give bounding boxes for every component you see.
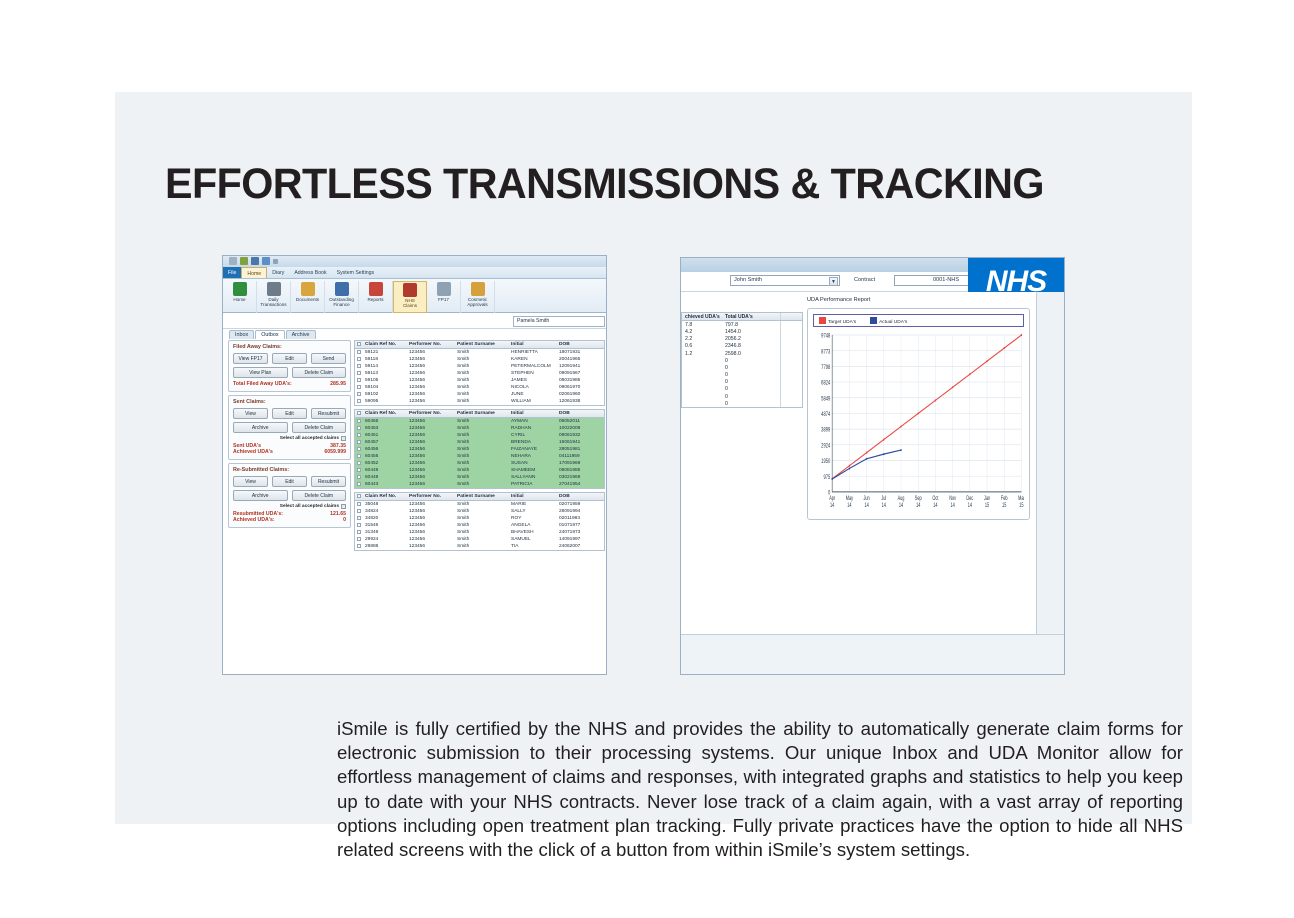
button-archive[interactable]: Archive [233,490,288,501]
table-cell: STEPHEN [509,370,557,377]
legend-swatch [870,317,877,324]
table-cell: 123456 [407,453,455,460]
checkbox-icon[interactable] [357,426,361,430]
button-send[interactable]: Send [311,353,346,364]
table-cell: 60452 [363,460,407,467]
select-all-label: Select all accepted claims [280,504,339,509]
table-cell: Smith [455,543,509,550]
panel-sent-claims: Sent Claims:ViewEditResubmitArchiveDelet… [228,395,351,460]
checkbox-icon[interactable] [357,509,361,513]
table-cell: 123456 [407,515,455,522]
table-cell: KAREN [509,356,557,363]
x-axis-tick-label-year: 14 [882,502,886,509]
table-cell: 123456 [407,432,455,439]
table-cell: 02061960 [557,391,597,398]
table-row[interactable]: 60465123456SmithAYMAN06052011 [355,418,604,425]
button-resubmit[interactable]: Resubmit [311,476,346,487]
stat-row: Total Filed Away UDA's:285.95 [233,381,346,387]
ribbon-button-cosmetic-approvals[interactable]: CosmeticApprovals [461,281,495,313]
row-checkbox[interactable] [355,522,363,529]
select-all-checkbox[interactable] [355,341,363,348]
chart-data-point [900,425,901,427]
ribbon-button-documents[interactable]: Documents [291,281,325,313]
table-cell: Smith [455,356,509,363]
table-row[interactable]: 59104123456SmithNICOLA09061970 [355,384,604,391]
books-icon [403,283,417,297]
table-cell: Smith [455,508,509,515]
column-header: Patient Surname [455,493,509,500]
checkbox-icon[interactable] [357,433,361,437]
sent-claims-grid: Claim Ref No.Performer No.Patient Surnam… [354,409,605,489]
table-cell: Smith [455,439,509,446]
chart-data-point [1021,334,1022,336]
table-cell: 18071931 [557,349,597,356]
stat-row: Achieved UDA's6059.999 [233,449,346,455]
table-row[interactable]: 29924123456SmithSAMUEL14091997 [355,536,604,543]
legend-label: Actual UDA's [879,320,907,325]
chart-data-point [883,438,884,440]
table-row[interactable]: 60452123456SmithSUSAN17091969 [355,460,604,467]
table-row[interactable]: 59114123456SmithPETERMALCOLM12091941 [355,363,604,370]
table-cell: 24062007 [557,543,597,550]
checkbox-icon[interactable] [357,342,361,346]
table-cell: JUNE [509,391,557,398]
table-row[interactable]: 0 [682,379,802,386]
checkbox-icon[interactable] [357,385,361,389]
table-row[interactable]: 2.22056.2 [682,336,802,343]
table-cell: 0 [722,393,780,400]
table-row[interactable]: 60456123456SmithFAIZANAYE28051981 [355,446,604,453]
table-cell: Smith [455,349,509,356]
table-cell [682,372,722,379]
column-header: DOB [557,410,597,417]
checkbox-icon[interactable] [341,436,346,441]
page-title: EFFORTLESS TRANSMISSIONS & TRACKING [165,160,1044,209]
claims-tab-strip[interactable]: InboxOutboxArchive [229,330,316,339]
column-header: DOB [557,493,597,500]
button-delete-claim[interactable]: Delete Claim [292,422,347,433]
table-cell: 59104 [363,384,407,391]
ribbon-button-fp17[interactable]: FP17 [427,281,461,313]
table-cell: 09061932 [557,432,597,439]
legend-swatch [819,317,826,324]
table-cell: 123456 [407,391,455,398]
table-cell: TIA [509,543,557,550]
table-cell: 2598.0 [722,350,780,357]
ribbon-button-outstanding-finance[interactable]: OutstandingFinance [325,281,359,313]
column-header: Claim Ref No. [363,410,407,417]
table-row[interactable]: 60457123456SmithBRENDA16061941 [355,439,604,446]
table-row[interactable]: 0 [682,386,802,393]
table-cell: 34820 [363,515,407,522]
chart-data-point [866,452,867,454]
table-cell [682,379,722,386]
table-cell: 123456 [407,370,455,377]
table-row[interactable]: 60455123456SmithNEHARA04111959 [355,453,604,460]
table-row[interactable]: 59105123456SmithJAMES08031985 [355,377,604,384]
table-row[interactable]: 60449123456SmithSHAMEEM08081985 [355,467,604,474]
table-cell: FAIZANAYE [509,446,557,453]
tab-inbox[interactable]: Inbox [229,330,254,339]
ribbon-tab-address-book[interactable]: Address Book [289,267,331,278]
chart-data-point [849,467,850,469]
table-cell: 35048 [363,501,407,508]
checkbox-icon[interactable] [357,364,361,368]
stat-label: Total Filed Away UDA's: [233,381,292,387]
screenshot-nhs-claims-outbox: FileHomeDiaryAddress BookSystem Settings… [222,255,607,675]
row-checkbox[interactable] [355,377,363,384]
ribbon-button-home[interactable]: Home [223,281,257,313]
right-scroll-strip[interactable] [1036,292,1064,674]
row-checkbox[interactable] [355,370,363,377]
checkbox-icon[interactable] [357,537,361,541]
x-axis-tick-label-year: 14 [968,502,972,509]
table-row[interactable]: 0.62346.8 [682,343,802,350]
table-cell: 2346.8 [722,343,780,350]
checkbox-icon[interactable] [357,454,361,458]
button-view[interactable]: View [233,476,268,487]
ribbon-tab-system-settings[interactable]: System Settings [332,267,379,278]
table-cell: 60463 [363,425,407,432]
person-icon[interactable] [251,257,259,265]
checkbox-icon[interactable] [357,371,361,375]
row-checkbox[interactable] [355,467,363,474]
row-checkbox[interactable] [355,501,363,508]
table-cell: 02071959 [557,501,597,508]
table-row[interactable]: 59121123456SmithHENRIETTA18071931 [355,349,604,356]
table-cell: 797.8 [722,321,780,328]
table-row[interactable]: 31546123456SmithANGELA01071977 [355,522,604,529]
user-icon[interactable] [240,257,248,265]
table-cell: 10022008 [557,425,597,432]
checkbox-icon[interactable] [357,516,361,520]
table-cell [780,364,802,371]
table-cell: SAMUEL [509,536,557,543]
column-header: Total UDA's [722,313,780,320]
table-cell: 29924 [363,536,407,543]
ribbon-button-label: Transactions [257,302,290,307]
button-delete-claim[interactable]: Delete Claim [292,367,347,378]
button-view-fp17[interactable]: View FP17 [233,353,268,364]
table-cell: WILLIAM [509,398,557,405]
row-checkbox[interactable] [355,356,363,363]
table-cell: Smith [455,391,509,398]
table-cell: Smith [455,398,509,405]
row-checkbox[interactable] [355,425,363,432]
table-cell: 0 [722,379,780,386]
row-checkbox[interactable] [355,474,363,481]
globe-icon [233,282,247,296]
button-resubmit[interactable]: Resubmit [311,408,346,419]
panel-title: Filed Away Claims: [233,344,346,350]
ribbon-button-label: Reports [359,297,392,302]
row-checkbox[interactable] [355,543,363,550]
table-row[interactable]: 59118123456SmithKAREN20041965 [355,356,604,363]
table-cell: 7.8 [682,321,722,328]
button-edit[interactable]: Edit [272,353,307,364]
table-row[interactable]: 0 [682,400,802,407]
table-cell: 0.6 [682,343,722,350]
y-axis-tick-label: 6824 [821,380,830,387]
table-cell: 60448 [363,474,407,481]
table-cell: RADHAN [509,425,557,432]
table-cell: 123456 [407,398,455,405]
table-cell: 08031985 [557,377,597,384]
table-cell: 123456 [407,467,455,474]
ribbon-button-label: Home [223,297,256,302]
table-cell: ROY [509,515,557,522]
row-checkbox[interactable] [355,460,363,467]
table-row[interactable]: 59113123456SmithSTEPHEN09091967 [355,370,604,377]
ribbon-tab-home[interactable]: Home [241,267,267,278]
checkbox-icon[interactable] [357,544,361,548]
checkbox-icon[interactable] [357,440,361,444]
uda-monitor-body: chieved UDA'sTotal UDA's7.8797.84.21454.… [681,292,1064,674]
x-axis-tick-label-year: 14 [864,502,868,509]
table-cell [780,400,802,407]
table-cell: Smith [455,460,509,467]
button-delete-claim[interactable]: Delete Claim [292,490,347,501]
table-row[interactable]: 0 [682,372,802,379]
row-checkbox[interactable] [355,529,363,536]
y-axis-tick-label: 5849 [821,396,830,403]
x-axis-tick-label-year: 14 [899,502,903,509]
checkbox-icon[interactable] [357,399,361,403]
chart-panel-title: UDA Performance Report [807,297,870,303]
table-cell: 08081985 [557,467,597,474]
select-all-checkbox[interactable] [355,493,363,500]
ribbon-tab-diary[interactable]: Diary [267,267,289,278]
table-cell: 09091967 [557,370,597,377]
y-axis-tick-label: 3899 [821,427,830,434]
quick-access-toolbar [223,256,606,267]
table-cell: Smith [455,515,509,522]
column-header: Claim Ref No. [363,493,407,500]
table-row[interactable]: 35048123456SmithMARIE02071959 [355,501,604,508]
table-row[interactable]: 60463123456SmithRADHAN10022008 [355,425,604,432]
table-cell: 09061970 [557,384,597,391]
ribbon-tab-strip[interactable]: FileHomeDiaryAddress BookSystem Settings [223,267,606,279]
select-all-label: Select all accepted claims [280,436,339,441]
checkbox-icon[interactable] [357,392,361,396]
button-archive[interactable]: Archive [233,422,288,433]
table-cell [682,400,722,407]
button-edit[interactable]: Edit [272,408,307,419]
row-checkbox[interactable] [355,508,363,515]
checkbox-icon[interactable] [357,378,361,382]
table-cell: ANGELA [509,522,557,529]
table-cell: BRENDA [509,439,557,446]
legend-item-target-uda-s: Target UDA's [819,317,856,325]
checkbox-icon[interactable] [357,494,361,498]
chart-data-point [849,465,850,467]
button-row: ArchiveDelete Claim [233,422,346,433]
chart-plot-area: 9748877377986824584948743899292419509750… [813,331,1024,514]
table-row[interactable]: 29888123456SmithTIA24062007 [355,543,604,550]
x-axis-tick-label-year: 14 [916,502,920,509]
checkbox-icon[interactable] [357,461,361,465]
table-row[interactable]: 0 [682,357,802,364]
chart-data-point [969,373,970,375]
checkbox-icon[interactable] [357,447,361,451]
table-cell: 20041965 [557,356,597,363]
y-axis-tick-label: 4874 [821,411,830,418]
table-cell [780,393,802,400]
table-row[interactable]: 60443123456SmithPATRICIA27041954 [355,481,604,488]
table-cell: 123456 [407,501,455,508]
y-axis-tick-label: 2924 [821,443,830,450]
table-cell [780,379,802,386]
table-cell: 123456 [407,522,455,529]
chevron-down-icon[interactable]: ▼ [829,277,838,286]
ribbon-button-label: Documents [291,297,324,302]
select-all-accepted-claims[interactable]: Select all accepted claims [233,436,346,441]
row-checkbox[interactable] [355,349,363,356]
select-all-accepted-claims[interactable]: Select all accepted claims [233,504,346,509]
table-cell: 12061938 [557,398,597,405]
checkbox-icon[interactable] [341,504,346,509]
re-submitted-claims-grid: Claim Ref No.Performer No.Patient Surnam… [354,492,605,551]
table-row[interactable]: 0 [682,364,802,371]
row-checkbox[interactable] [355,363,363,370]
checkbox-icon[interactable] [357,530,361,534]
chart-data-point [831,478,832,480]
table-cell [780,350,802,357]
checkbox-icon[interactable] [357,468,361,472]
row-checkbox[interactable] [355,536,363,543]
table-cell [780,321,802,328]
tab-outbox[interactable]: Outbox [255,330,284,339]
table-cell: 4.2 [682,328,722,335]
x-axis-tick-label-year: 15 [985,502,989,509]
ribbon-button-label: Claims [394,303,426,308]
table-cell: JAMES [509,377,557,384]
table-cell: 24071973 [557,529,597,536]
tab-archive[interactable]: Archive [286,330,316,339]
checkbox-icon[interactable] [357,502,361,506]
table-cell: Smith [455,418,509,425]
checkbox-icon[interactable] [357,350,361,354]
column-header: DOB [557,341,597,348]
ribbon-button-daily-transactions[interactable]: DailyTransactions [257,281,291,313]
table-row[interactable]: 31349123456SmithBHAVESH24071973 [355,529,604,536]
current-user-field[interactable]: Pamela Smith [513,316,605,327]
table-cell [780,343,802,350]
row-checkbox[interactable] [355,418,363,425]
table-cell: 59121 [363,349,407,356]
row-checkbox[interactable] [355,515,363,522]
table-row[interactable]: 7.8797.8 [682,321,802,328]
table-row[interactable]: 34824123456SmithSALLY28091994 [355,508,604,515]
ribbon-button-nhs-claims[interactable]: NHSClaims [393,281,427,313]
claims-grids: Claim Ref No.Performer No.Patient Surnam… [354,340,605,672]
window-icon[interactable] [262,257,270,265]
chart-legend: Target UDA'sActual UDA's [813,314,1024,327]
table-cell: Smith [455,446,509,453]
button-view[interactable]: View [233,408,268,419]
uda-performance-chart-panel: Target UDA'sActual UDA's 974887737798682… [807,308,1030,520]
row-checkbox[interactable] [355,439,363,446]
table-cell: Smith [455,536,509,543]
table-row[interactable]: 60448123456SmithSALLYANN03021969 [355,474,604,481]
button-edit[interactable]: Edit [272,476,307,487]
y-axis-tick-label: 8773 [821,349,830,356]
table-row[interactable]: 0 [682,393,802,400]
ribbon-button-group[interactable]: HomeDailyTransactionsDocumentsOutstandin… [223,279,606,312]
checkbox-icon[interactable] [357,419,361,423]
table-row[interactable]: 34820123456SmithROY02011983 [355,515,604,522]
checkbox-icon[interactable] [357,482,361,486]
clipboard-icon [369,282,383,296]
stat-value: 285.95 [330,381,346,387]
stat-label: Achieved UDA's: [233,517,275,523]
table-cell: 14091997 [557,536,597,543]
row-checkbox[interactable] [355,432,363,439]
chevron-down-icon[interactable] [273,259,278,264]
body-paragraph: iSmile is fully certified by the NHS and… [337,717,1183,862]
table-cell [682,386,722,393]
table-row[interactable]: 1.22598.0 [682,350,802,357]
table-cell: 0 [722,400,780,407]
performer-select[interactable]: John Smith ▼ [730,275,840,286]
table-cell: 123456 [407,418,455,425]
table-cell: MARIE [509,501,557,508]
search-icon[interactable] [229,257,237,265]
stat-value: 0 [343,517,346,523]
row-checkbox[interactable] [355,446,363,453]
row-checkbox[interactable] [355,391,363,398]
form-icon [437,282,451,296]
row-checkbox[interactable] [355,398,363,405]
table-row[interactable]: 4.21454.0 [682,328,802,335]
table-cell: Smith [455,501,509,508]
table-row[interactable]: 59102123456SmithJUNE02061960 [355,391,604,398]
column-header: Patient Surname [455,410,509,417]
select-all-checkbox[interactable] [355,410,363,417]
chart-series-target-uda-s [832,335,1021,479]
checkbox-icon[interactable] [357,523,361,527]
table-cell [682,357,722,364]
table-cell: Smith [455,529,509,536]
ribbon-button-reports[interactable]: Reports [359,281,393,313]
row-checkbox[interactable] [355,481,363,488]
checkbox-icon[interactable] [357,475,361,479]
table-cell: 28091994 [557,508,597,515]
table-cell [780,328,802,335]
table-cell: 0 [722,372,780,379]
ribbon-tab-file[interactable]: File [223,267,241,278]
table-cell: Smith [455,453,509,460]
y-axis-tick-label: 975 [823,474,830,481]
checkbox-icon[interactable] [357,411,361,415]
table-cell: 0 [722,357,780,364]
table-row[interactable]: 60461123456SmithCYRIL09061932 [355,432,604,439]
claims-action-panels: Filed Away Claims:View FP17EditSendView … [228,340,351,531]
row-checkbox[interactable] [355,453,363,460]
panel-title: Re-Submitted Claims: [233,467,346,473]
row-checkbox[interactable] [355,384,363,391]
table-cell: 60457 [363,439,407,446]
table-cell: 03021969 [557,474,597,481]
button-row: ViewEditResubmit [233,408,346,419]
table-row[interactable]: 59095123456SmithWILLIAM12061938 [355,398,604,405]
table-cell: AYMAN [509,418,557,425]
table-cell: 123456 [407,529,455,536]
chart-data-point [866,458,867,460]
checkbox-icon[interactable] [357,357,361,361]
button-view-plan[interactable]: View Plan [233,367,288,378]
ribbon-button-label: Finance [325,302,358,307]
